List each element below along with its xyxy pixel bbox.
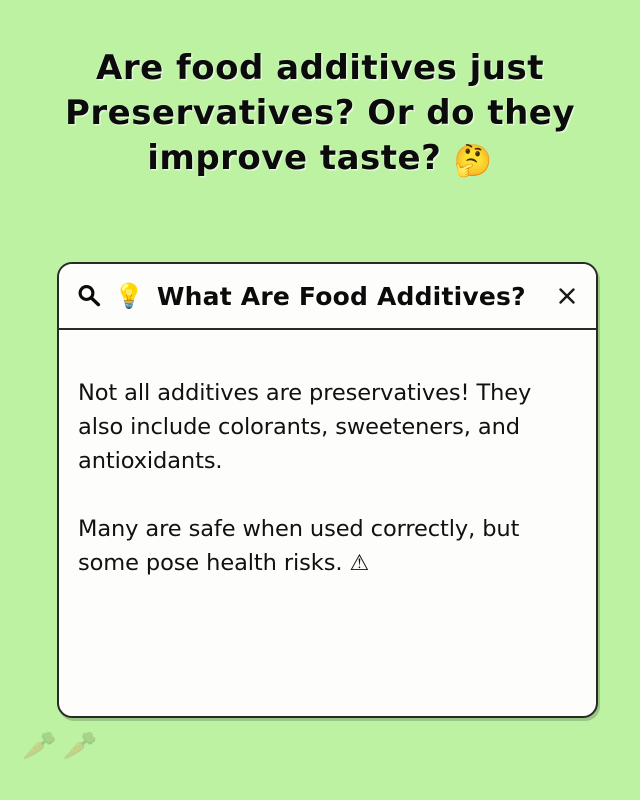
body-paragraph-1: Not all additives are preservatives! The…	[78, 376, 576, 478]
page-title-line-3: improve taste?	[147, 138, 441, 178]
body-paragraph-2: Many are safe when used correctly, but s…	[78, 512, 576, 581]
carrot-watermark: 🥕🥕	[22, 732, 104, 760]
thinking-face-icon: 🤔	[454, 143, 493, 179]
page-title-line-2: Preservatives? Or do they	[65, 93, 575, 133]
page-title-line-1: Are food additives just	[96, 48, 544, 88]
warning-triangle-icon: ⚠	[349, 551, 369, 576]
page-title: Are food additives just Preservatives? O…	[0, 46, 640, 184]
body-paragraph-2-text: Many are safe when used correctly, but s…	[78, 516, 519, 576]
info-card-title: What Are Food Additives?	[157, 282, 546, 311]
lightbulb-icon: 💡	[114, 284, 144, 308]
info-card-body: Not all additives are preservatives! The…	[59, 330, 596, 581]
info-card-header: 💡 What Are Food Additives?	[59, 264, 596, 330]
close-icon[interactable]	[554, 283, 580, 309]
search-icon[interactable]	[76, 283, 102, 309]
info-card: 💡 What Are Food Additives? Not all addit…	[57, 262, 598, 718]
